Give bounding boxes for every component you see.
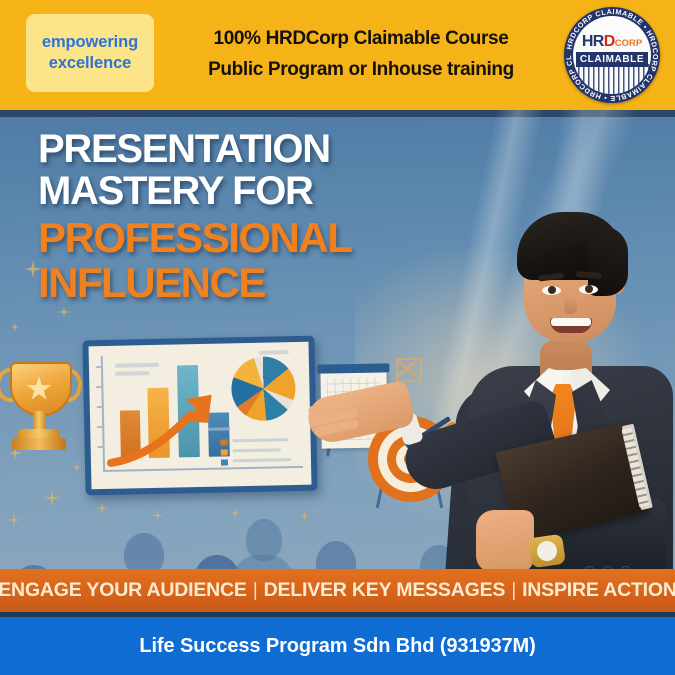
seal-claimable-label: CLAIMABLE [576,52,648,67]
seal-brand-text: HRDCORP [573,33,651,51]
legend-swatch [221,439,228,445]
header-bar: empowering excellence 100% HRDCorp Claim… [0,0,675,110]
screen-text-line [259,350,289,354]
axis-tick [97,426,103,428]
flipchart-header-bar [317,363,389,373]
watch-face [536,540,559,563]
chart-x-axis [103,466,303,472]
screen-content [89,342,312,490]
empowering-excellence-logo: empowering excellence [26,14,154,92]
presenter-smile [550,318,592,333]
logo-line-1: empowering [42,32,138,53]
presenter-pupil-right [585,285,593,293]
presentation-screen [82,336,317,496]
benefit-3: INSPIRE ACTION [522,579,675,602]
trophy-base-lower [12,438,66,450]
window-frame-icon [396,358,422,382]
screen-text-line [115,371,149,375]
legend-line [233,438,289,442]
legend-line [233,458,291,462]
logo-line-2: excellence [49,53,131,74]
chart-y-axis [101,356,105,472]
presenter-pupil-left [548,286,556,294]
presenter-wristwatch [528,534,566,568]
benefit-2: DELIVER KEY MESSAGES [264,579,506,602]
key-benefits-banner: ENGAGE YOUR AUDIENCE | DELIVER KEY MESSA… [0,569,675,612]
benefit-1: ENGAGE YOUR AUDIENCE [0,579,247,602]
presenter-teeth [551,318,591,326]
legend-line [208,427,230,430]
seal-inner-disc: HRDCORP CLAIMABLE [573,16,651,94]
company-footer: Life Success Program Sdn Bhd (931937M) [0,617,675,675]
trophy-stem [33,411,45,431]
axis-tick [98,446,104,448]
pie-chart [231,356,296,421]
trophy-icon [2,362,80,468]
axis-tick [96,386,102,388]
benefit-separator: | [247,579,264,602]
presenter-figure [420,118,675,615]
sparkle-icon [58,306,70,318]
axis-tick [96,366,102,368]
screen-text-line [115,363,159,367]
header-text-block: 100% HRDCorp Claimable Course Public Pro… [186,24,536,86]
course-poster: empowering excellence 100% HRDCorp Claim… [0,0,675,675]
presenter-hand-holding [476,510,534,572]
poster-artwork: PRESENTATION MASTERY FOR PROFESSIONAL IN… [0,110,675,615]
legend-line [233,448,281,452]
legend-swatch [221,459,228,465]
header-line-2: Public Program or Inhouse training [208,55,514,86]
seal-stripes [573,64,651,94]
legend-swatch [221,449,228,455]
benefit-separator: | [505,579,522,602]
company-name: Life Success Program Sdn Bhd (931937M) [139,635,535,658]
presenter-nose [564,296,577,314]
sparkle-icon [10,322,20,332]
axis-tick [97,406,103,408]
hrdcorp-claimable-seal-icon: HRDCORP CLAIMABLE • HRDCORP CLAIMABLE • … [564,7,660,103]
sparkle-icon [44,490,60,506]
header-line-1: 100% HRDCorp Claimable Course [214,24,509,55]
